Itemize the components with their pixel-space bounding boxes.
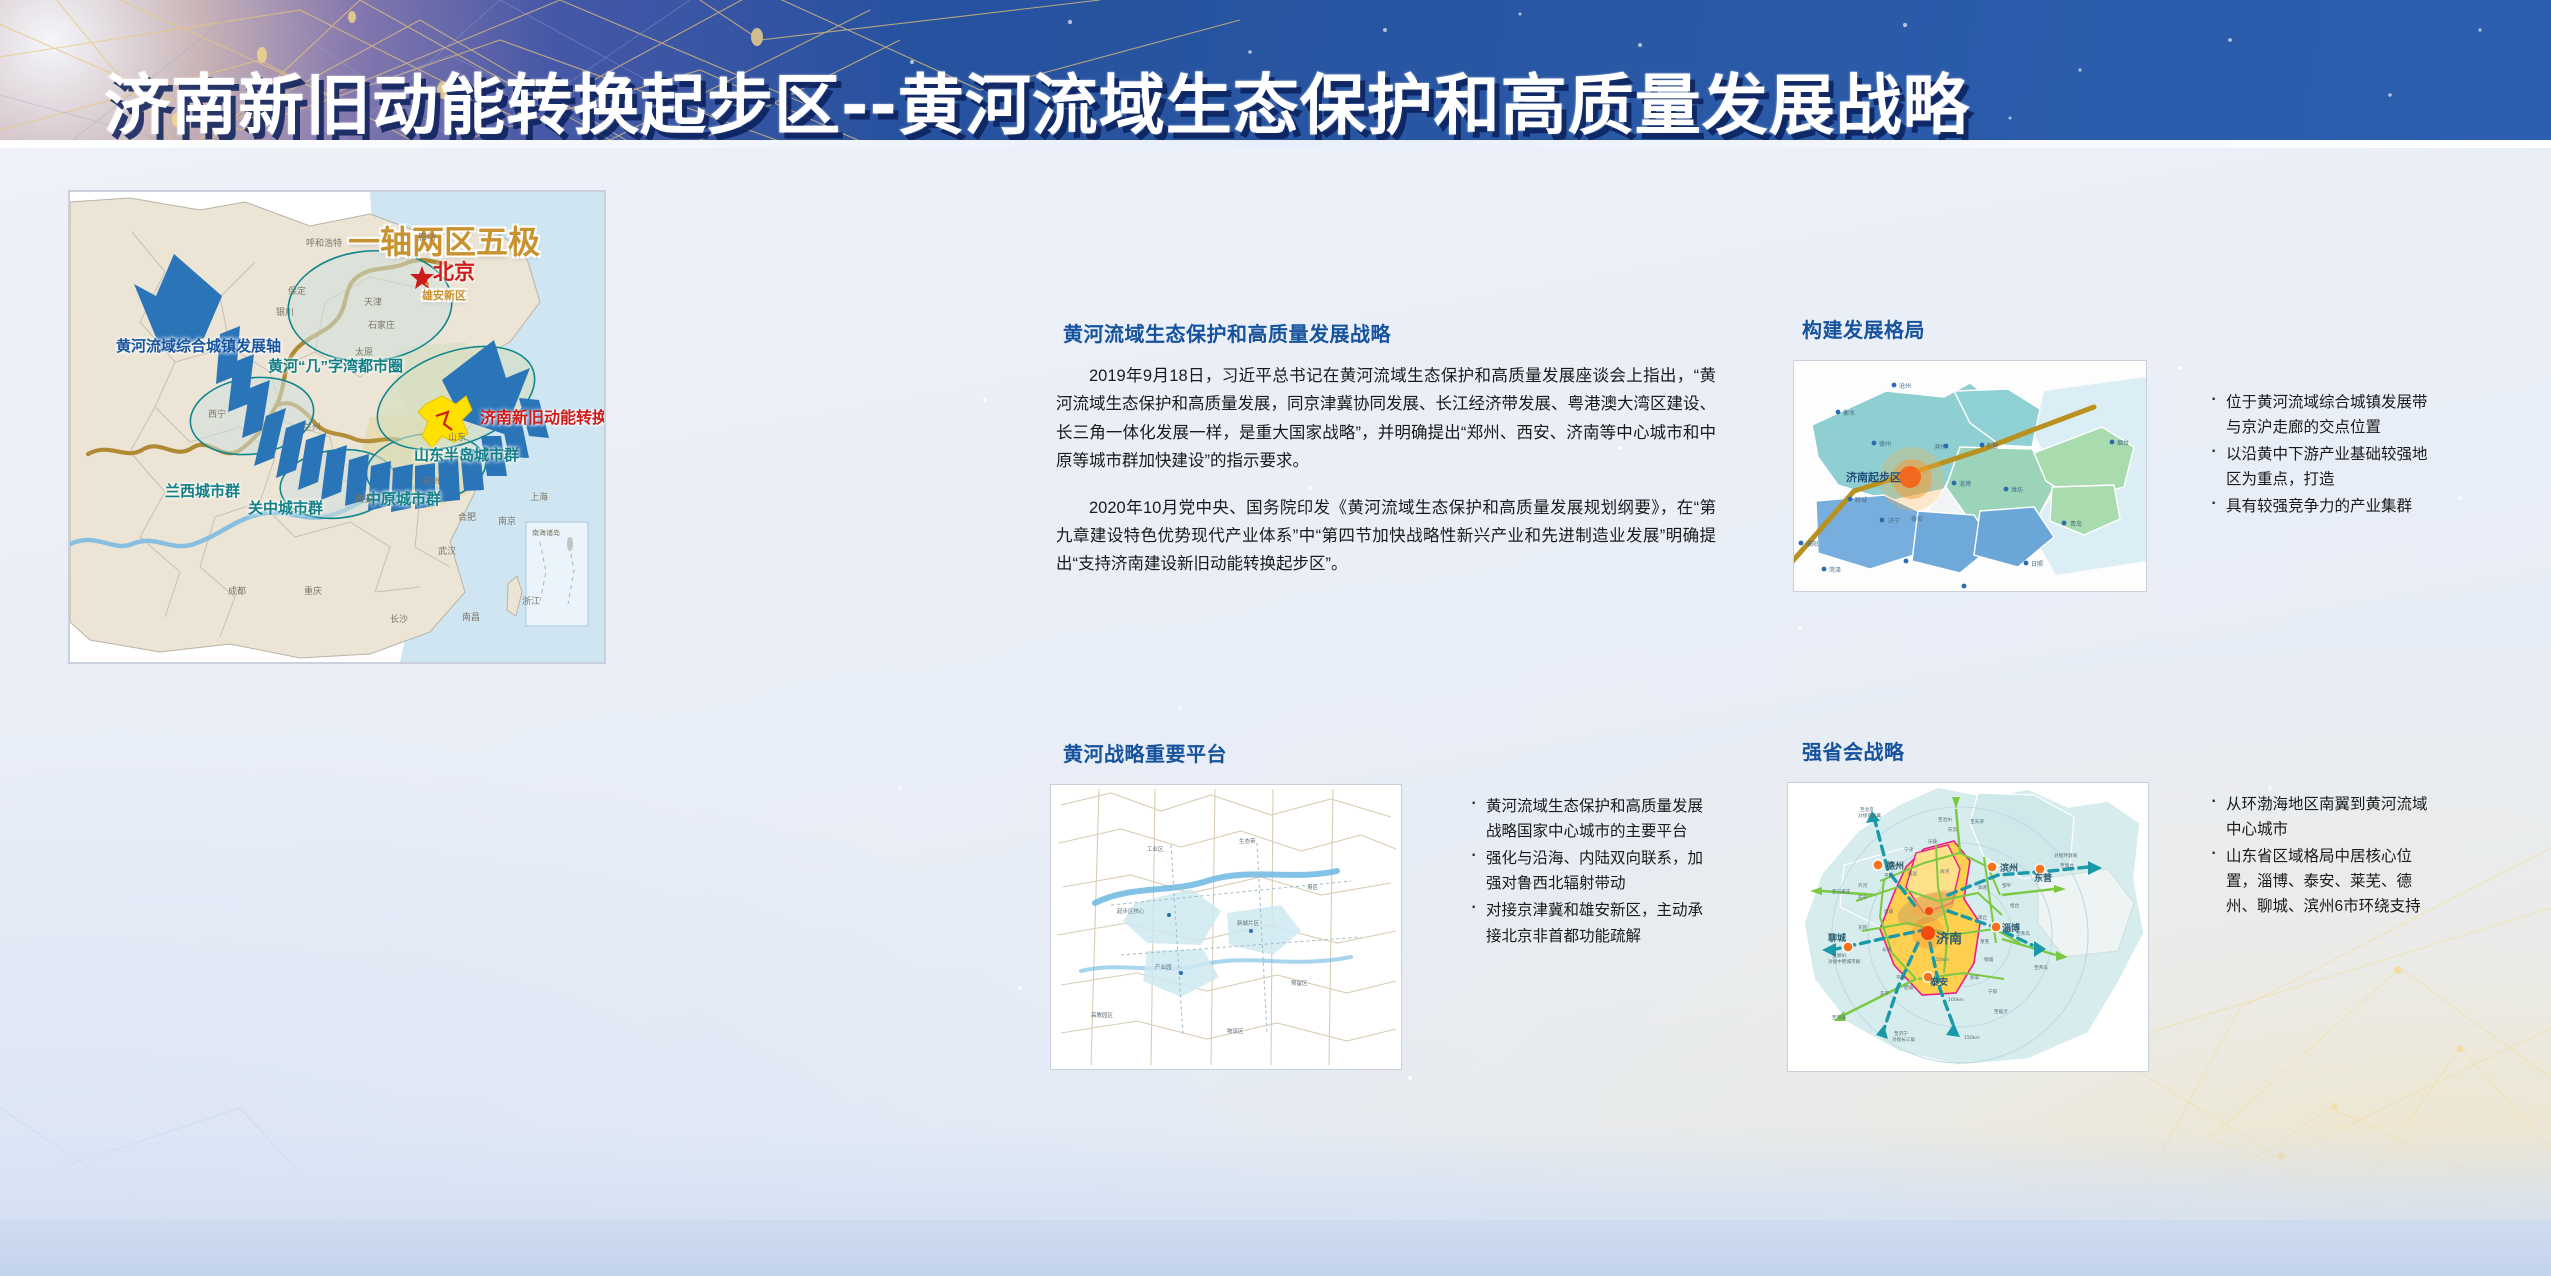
city-label: 石家庄 xyxy=(368,318,395,331)
svg-text:禹城: 禹城 xyxy=(1884,908,1894,915)
svg-text:至青岛: 至青岛 xyxy=(2034,964,2048,971)
svg-text:日照: 日照 xyxy=(2031,561,2043,568)
svg-text:至菏泽: 至菏泽 xyxy=(1832,1014,1846,1021)
svg-text:至临沂: 至临沂 xyxy=(1994,1008,2008,1015)
svg-text:钢城: 钢城 xyxy=(1984,956,1994,963)
svg-text:对接环渤海: 对接环渤海 xyxy=(2054,852,2077,859)
label-lanxi-cluster: 兰西城市群 xyxy=(165,480,240,501)
svg-text:章丘: 章丘 xyxy=(1978,914,1988,921)
poster-root: 济南新旧动能转换起步区--黄河流域生态保护和高质量发展战略 xyxy=(0,0,2551,1276)
svg-text:衡水: 衡水 xyxy=(1843,409,1855,417)
strategy-paragraph-1: 2019年9月18日，习近平总书记在黄河流域生态保护和高质量发展座谈会上指出，“… xyxy=(1056,362,1716,476)
city-label: 太原 xyxy=(355,345,373,358)
capital-map-panel: 德州滨州聊城 淄博泰安东营 济南 至北京对接京津冀 至沧州至天津 对接环渤海至烟… xyxy=(1787,782,2149,1072)
list-item: 从环渤海地区南翼到黄河流域中心城市 xyxy=(2206,792,2436,842)
section-heading-platform: 黄河战略重要平台 xyxy=(1063,738,1227,767)
svg-text:茌平: 茌平 xyxy=(1858,894,1868,901)
svg-text:东平: 东平 xyxy=(1880,990,1890,997)
svg-text:肥城: 肥城 xyxy=(1904,984,1914,991)
svg-text:齐河: 齐河 xyxy=(1858,882,1868,889)
svg-text:淄博: 淄博 xyxy=(1959,480,1971,488)
section-heading-strategy: 黄河流域生态保护和高质量发展战略 xyxy=(1063,318,1391,347)
city-label: 重庆 xyxy=(304,584,322,597)
banner-underline xyxy=(0,140,2551,148)
svg-text:宁阳: 宁阳 xyxy=(1988,988,1998,995)
city-label: 成都 xyxy=(228,584,246,597)
city-label: 郑州 xyxy=(422,474,440,487)
city-label: 南海诸岛 xyxy=(532,528,560,538)
city-label: 南京 xyxy=(498,514,516,527)
label-development-axis: 黄河流域综合城镇发展轴 xyxy=(116,335,281,356)
svg-text:潍坊: 潍坊 xyxy=(2011,486,2023,494)
svg-text:100km: 100km xyxy=(1948,997,1964,1003)
svg-text:对接长三角: 对接长三角 xyxy=(1892,1036,1915,1043)
jinan-city-plan-map: 工业区生态带港区 起步区核心新城片区产业园 预留区高教园区物流区 xyxy=(1051,785,1401,1069)
city-label: 合肥 xyxy=(458,510,476,523)
svg-text:至石家庄: 至石家庄 xyxy=(1832,888,1851,895)
svg-text:商河: 商河 xyxy=(1940,868,1950,875)
svg-text:聊城: 聊城 xyxy=(1855,496,1867,504)
svg-text:烟台: 烟台 xyxy=(2117,439,2129,447)
label-geziwan-metro-circle: 黄河“几”字湾都市圈 xyxy=(268,355,403,376)
svg-text:泰安: 泰安 xyxy=(1911,515,1923,523)
city-label: 山东 xyxy=(448,430,466,443)
strategy-paragraph-2: 2020年10月党中央、国务院印发《黄河流域生态保护和高质量发展规划纲要》，在“… xyxy=(1056,494,1716,579)
svg-text:港区: 港区 xyxy=(1307,883,1319,891)
svg-text:长清: 长清 xyxy=(1882,946,1892,953)
city-label: 廊坊 xyxy=(418,230,436,243)
svg-text:高教园区: 高教园区 xyxy=(1091,1011,1114,1019)
label-xiongan: 雄安新区 xyxy=(422,287,466,303)
pattern-bullets: 位于黄河流域综合城镇发展带与京沪走廊的交点位置 以沿黄中下游产业基础较强地区为重… xyxy=(2206,390,2436,522)
svg-text:至烟台: 至烟台 xyxy=(2060,862,2074,869)
label-beijing: 北京 xyxy=(433,256,475,286)
svg-text:平原: 平原 xyxy=(1884,873,1894,879)
list-item: 强化与沿海、内陆双向联系，加强对鲁西北辐射带动 xyxy=(1466,846,1704,896)
label-shandong-peninsula-cluster: 山东半岛城市群 xyxy=(414,444,519,465)
svg-text:濮阳: 濮阳 xyxy=(1806,540,1818,548)
svg-text:高青: 高青 xyxy=(1978,884,1988,891)
svg-text:预留区: 预留区 xyxy=(1291,979,1308,987)
city-label: 兰州 xyxy=(303,420,321,433)
city-label: 保定 xyxy=(288,284,306,297)
list-item: 具有较强竞争力的产业集群 xyxy=(2206,494,2436,519)
svg-text:对接中原城市群: 对接中原城市群 xyxy=(1828,958,1861,965)
svg-text:50km: 50km xyxy=(1936,957,1950,963)
strategy-body: 2019年9月18日，习近平总书记在黄河流域生态保护和高质量发展座谈会上指出，“… xyxy=(1056,362,1716,597)
svg-text:沧州: 沧州 xyxy=(1899,382,1911,390)
svg-text:对接京津冀: 对接京津冀 xyxy=(1858,812,1881,819)
svg-text:泰安: 泰安 xyxy=(1929,976,1948,988)
svg-text:聊城: 聊城 xyxy=(1828,932,1846,944)
svg-text:至沧州: 至沧州 xyxy=(1938,816,1952,823)
city-label: 天津 xyxy=(364,295,382,308)
list-item: 对接京津冀和雄安新区，主动承接北京非首都功能疏解 xyxy=(1466,898,1704,948)
svg-text:产业园: 产业园 xyxy=(1155,963,1172,971)
list-item: 黄河流域生态保护和高质量发展战略国家中心城市的主要平台 xyxy=(1466,794,1704,844)
svg-text:菏泽: 菏泽 xyxy=(1829,566,1841,574)
header-banner: 济南新旧动能转换起步区--黄河流域生态保护和高质量发展战略 xyxy=(0,0,2551,148)
list-item: 位于黄河流域综合城镇发展带与京沪走廊的交点位置 xyxy=(2206,390,2436,440)
svg-text:临邑: 临邑 xyxy=(1908,870,1918,877)
svg-text:邹平: 邹平 xyxy=(2002,882,2012,889)
label-guanzhong-cluster: 关中城市群 xyxy=(248,497,323,518)
svg-text:新泰: 新泰 xyxy=(1970,974,1980,981)
svg-text:德州: 德州 xyxy=(1886,860,1904,872)
svg-text:工业区: 工业区 xyxy=(1147,845,1164,853)
list-item: 以沿黄中下游产业基础较强地区为重点，打造 xyxy=(2206,442,2436,492)
svg-text:至青岛: 至青岛 xyxy=(2016,930,2030,937)
svg-text:乐陵: 乐陵 xyxy=(1928,838,1938,845)
city-label: 西安 xyxy=(355,492,373,505)
section-heading-pattern: 构建发展格局 xyxy=(1802,314,1925,343)
svg-text:起步区核心: 起步区核心 xyxy=(1117,907,1145,915)
main-map-panel: 一轴两区五极 黄河流域综合城镇发展轴 黄河“几”字湾都市圈 兰西城市群 关中城市… xyxy=(68,190,606,664)
label-jinan-startup-area: 济南新旧动能转换起步区 xyxy=(480,404,606,428)
svg-text:滨州: 滨州 xyxy=(2000,862,2018,874)
svg-text:东营: 东营 xyxy=(1986,442,1998,450)
svg-text:新城片区: 新城片区 xyxy=(1237,919,1260,927)
svg-text:淄川: 淄川 xyxy=(2004,926,2014,933)
section-heading-capital: 强省会战略 xyxy=(1802,736,1905,765)
jinan-metropolitan-map: 德州滨州聊城 淄博泰安东营 济南 至北京对接京津冀 至沧州至天津 对接环渤海至烟… xyxy=(1788,783,2148,1071)
svg-text:济宁: 济宁 xyxy=(1888,517,1900,525)
svg-text:桓台: 桓台 xyxy=(2010,902,2020,909)
svg-text:青岛: 青岛 xyxy=(2070,520,2082,528)
svg-text:济南: 济南 xyxy=(1936,931,1962,947)
list-item: 山东省区域格局中居核心位置，淄博、泰安、莱芜、德州、聊城、滨州6市环绕支持 xyxy=(2206,844,2436,919)
city-label: 西宁 xyxy=(208,407,226,420)
city-label: 长沙 xyxy=(390,612,408,625)
svg-text:物流区: 物流区 xyxy=(1227,1027,1244,1035)
label-zhongyuan-cluster: 中原城市群 xyxy=(366,488,441,509)
platform-bullets: 黄河流域生态保护和高质量发展战略国家中心城市的主要平台 强化与沿海、内陆双向联系… xyxy=(1466,794,1704,951)
city-label: 南昌 xyxy=(462,610,480,623)
pattern-map-label: 济南起步区 xyxy=(1846,470,1901,484)
svg-text:至北京: 至北京 xyxy=(1860,806,1874,813)
capital-bullets: 从环渤海地区南翼到黄河流域中心城市 山东省区域格局中居核心位置，淄博、泰安、莱芜… xyxy=(2206,792,2436,922)
svg-text:平阴: 平阴 xyxy=(1896,974,1906,981)
svg-text:至郑州: 至郑州 xyxy=(1832,952,1846,959)
svg-text:150km: 150km xyxy=(1964,1035,1980,1041)
footer-strip xyxy=(0,1220,2551,1276)
city-label: 银川 xyxy=(276,305,294,318)
svg-text:至济宁: 至济宁 xyxy=(1894,1030,1908,1037)
pattern-map-panel: 沧州衡水德州 滨州东营淄博 潍坊聊城青岛 泰安济宁濮阳 烟台菏泽日照 济南起步区 xyxy=(1793,360,2147,592)
city-label: 浙江 xyxy=(522,594,540,607)
city-label: 呼和浩特 xyxy=(306,236,342,249)
svg-text:生态带: 生态带 xyxy=(1239,837,1256,845)
svg-text:德州: 德州 xyxy=(1879,440,1891,448)
svg-text:莱芜: 莱芜 xyxy=(1980,938,1990,945)
page-title: 济南新旧动能转换起步区--黄河流域生态保护和高质量发展战略 xyxy=(104,52,1970,148)
platform-map-panel: 工业区生态带港区 起步区核心新城片区产业园 预留区高教园区物流区 xyxy=(1050,784,1402,1070)
city-label: 上海 xyxy=(530,490,548,503)
svg-text:东营: 东营 xyxy=(2034,872,2052,884)
shandong-region-map: 沧州衡水德州 滨州东营淄博 潍坊聊城青岛 泰安济宁濮阳 烟台菏泽日照 济南起步区 xyxy=(1794,361,2146,591)
svg-text:滨州: 滨州 xyxy=(1934,443,1946,451)
svg-text:宁津: 宁津 xyxy=(1904,846,1914,853)
svg-text:至天津: 至天津 xyxy=(1970,818,1984,825)
svg-text:东阿: 东阿 xyxy=(1858,924,1868,931)
city-label: 武汉 xyxy=(438,544,456,557)
svg-text:庆云: 庆云 xyxy=(1948,826,1958,833)
